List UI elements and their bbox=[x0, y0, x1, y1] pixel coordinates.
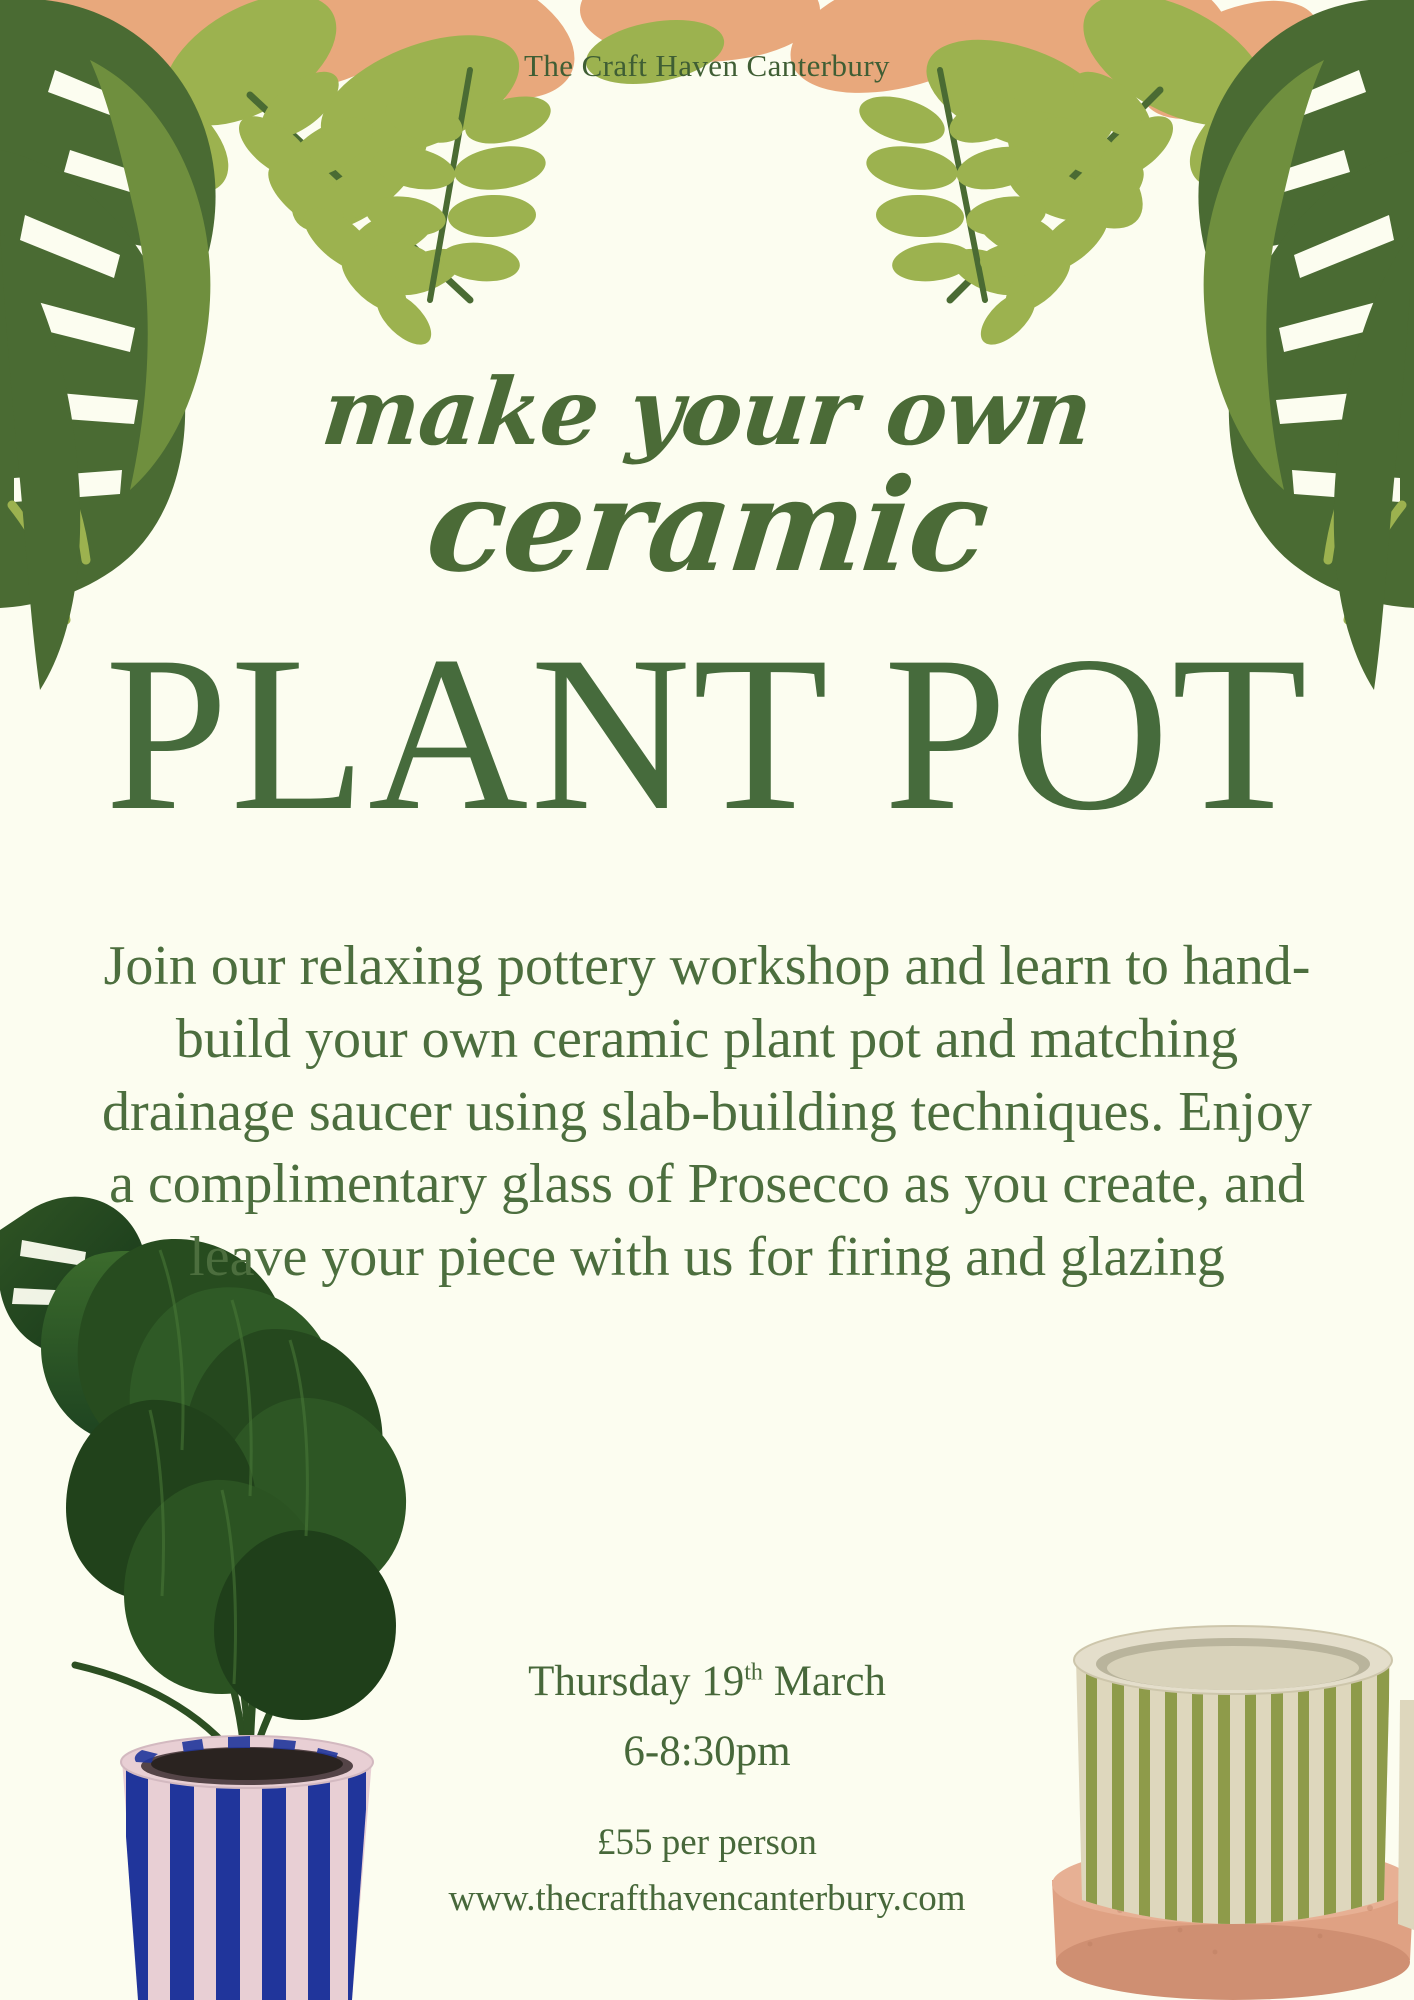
poster-canvas: The Craft Haven Canterbury make your own… bbox=[0, 0, 1414, 2000]
event-date-ordinal: th bbox=[744, 1660, 763, 1686]
fern-frond-right bbox=[946, 59, 1184, 354]
event-time: 6-8:30pm bbox=[0, 1725, 1414, 1779]
event-date: Thursday 19th March bbox=[0, 1655, 1414, 1709]
brand-name: The Craft Haven Canterbury bbox=[0, 48, 1414, 84]
event-date-text: Thursday 19 bbox=[528, 1658, 744, 1705]
script-headline-group: make your own ceramic bbox=[0, 368, 1414, 590]
fern-frond-right-inner bbox=[854, 70, 1049, 300]
event-website[interactable]: www.thecrafthavencanterbury.com bbox=[0, 1875, 1414, 1923]
event-price: £55 per person bbox=[0, 1819, 1414, 1867]
event-date-month: March bbox=[763, 1658, 886, 1705]
monstera-leaf-left-slits bbox=[48, 70, 172, 340]
olive-leaf-cluster-right bbox=[911, 0, 1370, 251]
olive-leaf-cluster-left bbox=[50, 0, 536, 255]
script-line-ceramic: ceramic bbox=[0, 462, 1414, 590]
page-title: PLANT POT bbox=[0, 632, 1414, 836]
script-line-make-your-own: make your own bbox=[0, 368, 1414, 456]
event-details-group: Thursday 19th March 6-8:30pm £55 per per… bbox=[0, 1655, 1414, 1923]
fern-frond-center bbox=[363, 70, 556, 300]
body-paragraph: Join our relaxing pottery workshop and l… bbox=[97, 930, 1317, 1294]
fern-frond-left bbox=[228, 59, 470, 354]
